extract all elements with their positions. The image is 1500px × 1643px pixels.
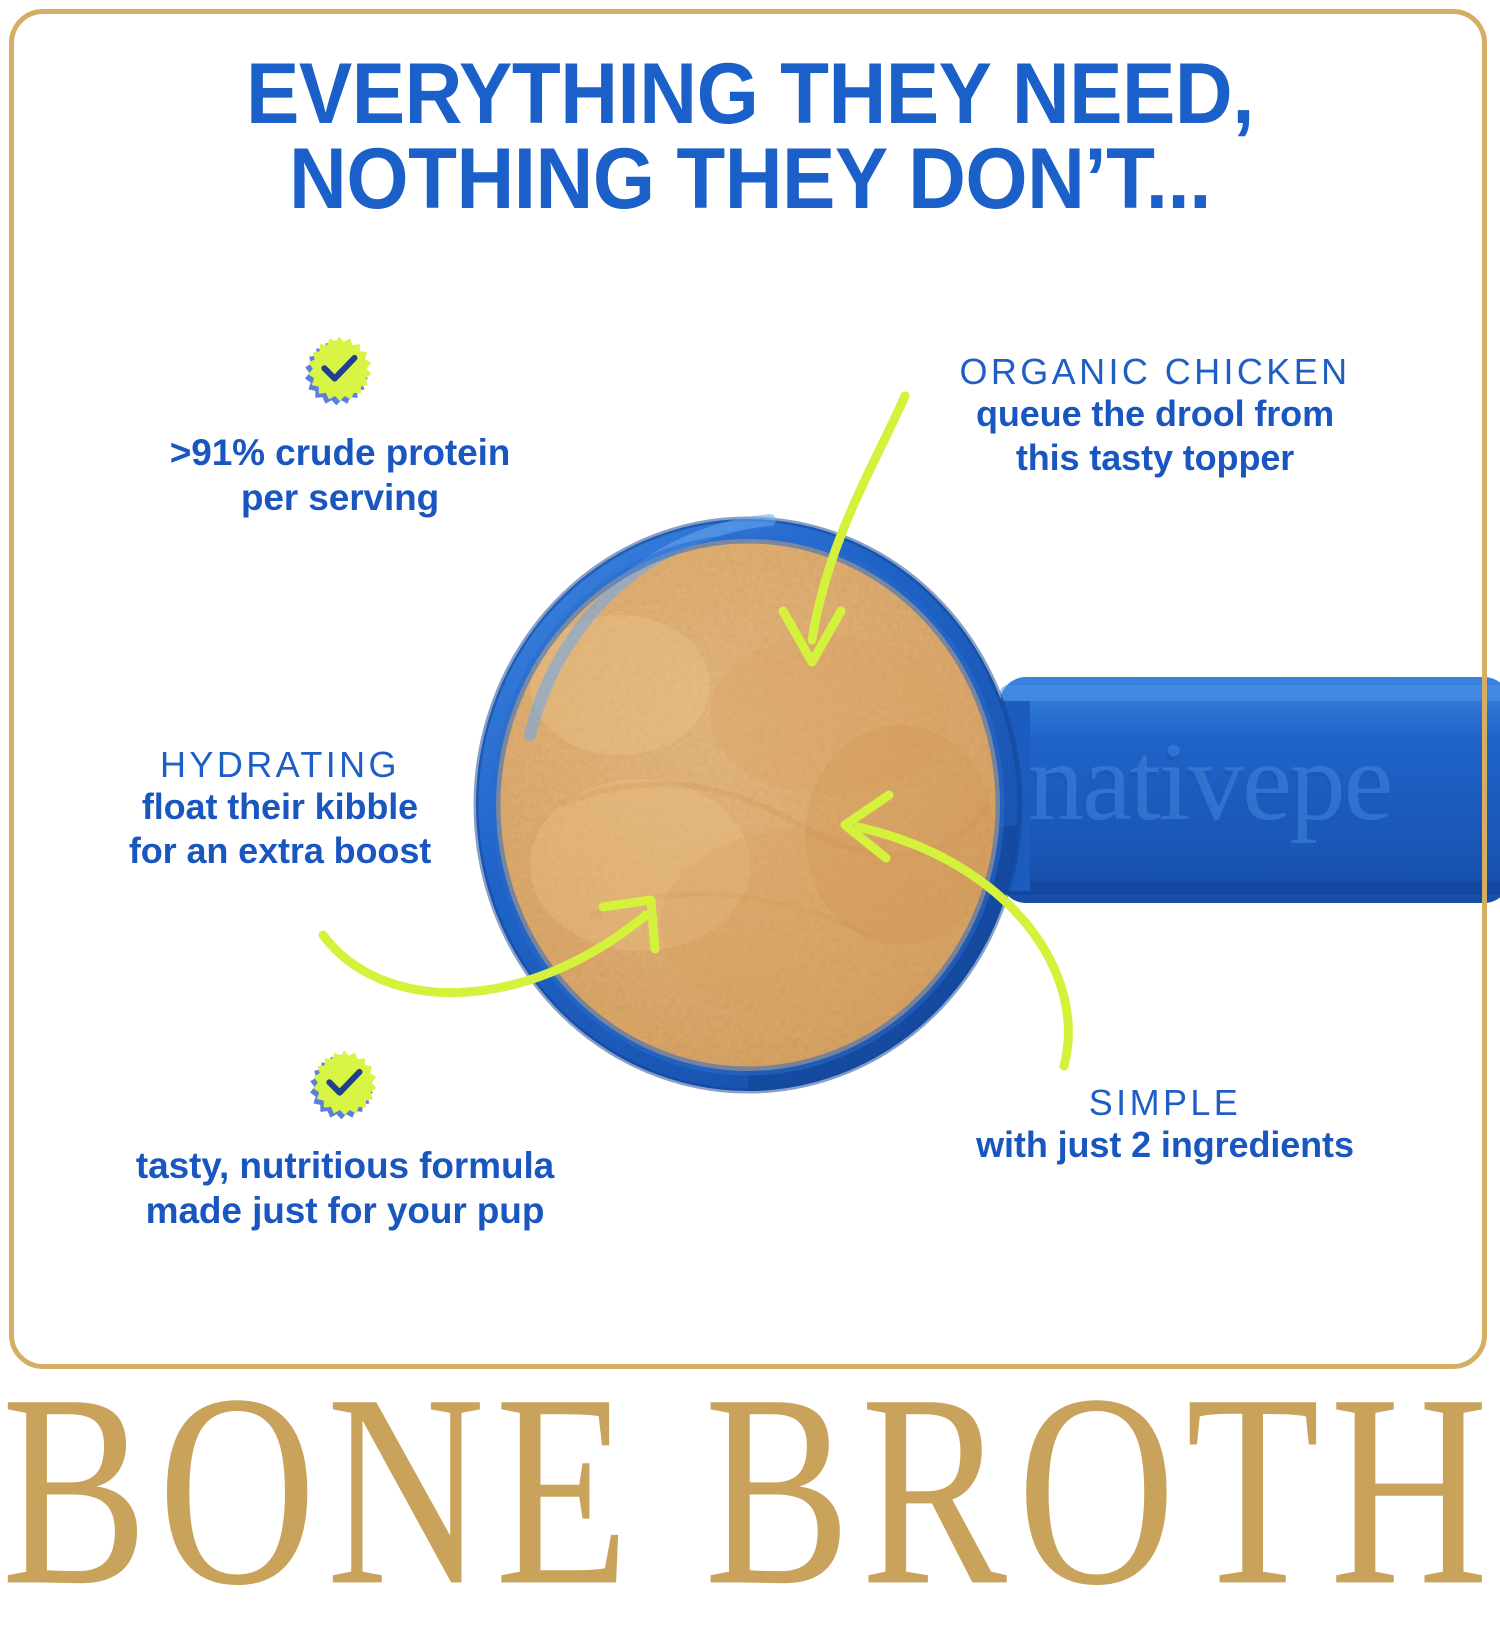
feature-body-simple: with just 2 ingredients: [940, 1123, 1390, 1166]
check-starburst-badge: [296, 333, 382, 419]
arrow-organic-chicken: [812, 396, 905, 640]
feature-heading-organic-chicken: ORGANIC CHICKEN: [905, 352, 1405, 392]
arrow-simple: [858, 827, 1068, 1066]
product-wordmark: BONE BROTH: [0, 1352, 1500, 1627]
feature-callout-simple: SIMPLE with just 2 ingredients: [940, 1083, 1390, 1167]
feature-callout-hydrating: HYDRATING float their kibble for an extr…: [60, 745, 500, 873]
feature-heading-hydrating: HYDRATING: [60, 745, 500, 785]
check-starburst-badge: [301, 1047, 387, 1133]
page-title: EVERYTHING THEY NEED, NOTHING THEY DON’T…: [53, 52, 1448, 222]
feature-heading-simple: SIMPLE: [940, 1083, 1390, 1123]
feature-body-protein: >91% crude protein per serving: [90, 430, 590, 520]
feature-body-tasty: tasty, nutritious formula made just for …: [100, 1143, 590, 1233]
feature-callout-tasty: tasty, nutritious formula made just for …: [100, 1143, 590, 1233]
feature-callout-protein: >91% crude protein per serving: [90, 430, 590, 520]
feature-callout-organic-chicken: ORGANIC CHICKEN queue the drool from thi…: [905, 352, 1405, 480]
feature-body-hydrating: float their kibble for an extra boost: [60, 785, 500, 873]
headline-line-2: NOTHING THEY DON’T...: [53, 137, 1448, 222]
arrow-hydrating: [323, 915, 646, 993]
headline-line-1: EVERYTHING THEY NEED,: [246, 46, 1254, 142]
feature-body-organic-chicken: queue the drool from this tasty topper: [905, 392, 1405, 480]
